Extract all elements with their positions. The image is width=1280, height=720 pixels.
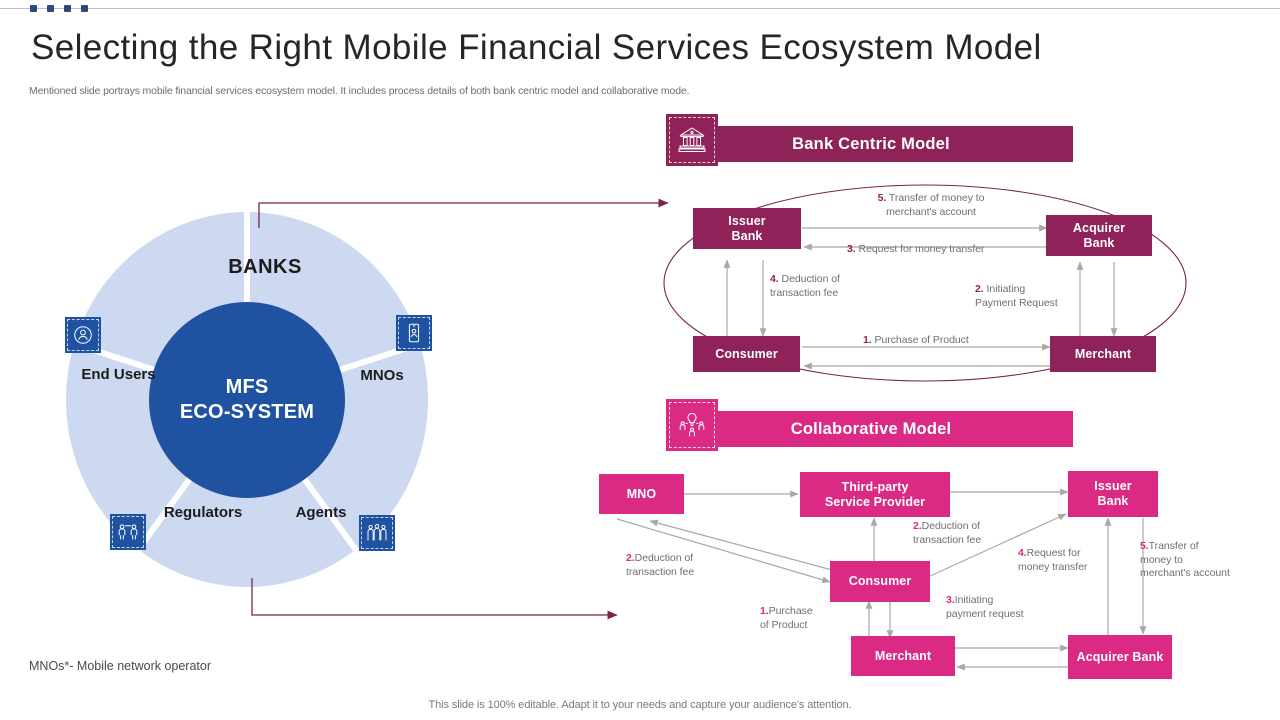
bc-step-5-line1: Transfer of money to — [886, 192, 984, 204]
cm-step-3-line1: Initiating — [955, 594, 994, 606]
bc-step-2-label: 2. Initiating Payment Request — [975, 283, 1105, 310]
bc-step-5-line2: merchant's account — [886, 206, 976, 218]
cm-step-4-label: 4.Request for money transfer — [1018, 547, 1122, 574]
bc-node-merchant: Merchant — [1050, 336, 1156, 372]
mobile-user-icon — [396, 315, 432, 351]
collaboration-idea-icon — [666, 399, 718, 451]
bank-centric-title: Bank Centric Model — [715, 135, 1073, 154]
bank-centric-header: Bank Centric Model — [666, 126, 1076, 162]
cm-step-2a-line1: Deduction of — [635, 552, 693, 564]
bc-acquirer-bank-line2: Bank — [1073, 236, 1125, 251]
cm-step-5-line1: Transfer of — [1149, 540, 1199, 552]
bc-step-3-label: 3. Request for money transfer — [847, 243, 1067, 257]
cm-node-third-party: Third-party Service Provider — [800, 472, 950, 517]
header-dots-decoration — [30, 2, 90, 16]
cm-node-merchant: Merchant — [851, 636, 955, 676]
segment-label-agents: Agents — [272, 504, 370, 521]
bc-step-4-line2: transaction fee — [770, 287, 838, 299]
bank-centric-title-bar: Bank Centric Model — [715, 126, 1073, 162]
cm-step-3-num: 3. — [946, 594, 955, 606]
cm-node-consumer: Consumer — [830, 561, 930, 602]
cm-step-2b-num: 2. — [913, 520, 922, 532]
bc-step-4-label: 4. Deduction of transaction fee — [770, 273, 890, 300]
bc-step-3-num: 3. — [847, 243, 856, 255]
cm-issuer-bank-line1: Issuer — [1094, 479, 1131, 494]
dot-4 — [81, 5, 88, 12]
dot-3 — [64, 5, 71, 12]
regulators-icon — [110, 514, 146, 550]
cm-step-4-line1: Request for — [1027, 547, 1081, 559]
dot-2 — [47, 5, 54, 12]
footnote-mnos: MNOs*- Mobile network operator — [29, 659, 211, 673]
cm-step-2a-label: 2.Deduction of transaction fee — [626, 552, 736, 579]
slide-root: Selecting the Right Mobile Financial Ser… — [0, 0, 1280, 720]
slide-footer: This slide is 100% editable. Adapt it to… — [0, 699, 1280, 711]
hub-label-line1: MFS — [180, 375, 314, 400]
cm-step-5-num: 5. — [1140, 540, 1149, 552]
dot-1 — [30, 5, 37, 12]
cm-step-2b-line1: Deduction of — [922, 520, 980, 532]
cm-step-1-label: 1.Purchase of Product — [760, 605, 860, 632]
header-divider — [0, 8, 1280, 9]
page-title: Selecting the Right Mobile Financial Ser… — [31, 26, 1151, 70]
bc-step-4-line1: Deduction of — [779, 273, 840, 285]
cm-step-1-line1: Purchase — [769, 605, 813, 617]
cm-step-2b-line2: transaction fee — [913, 534, 981, 546]
cm-node-mno: MNO — [599, 474, 684, 514]
cm-node-acquirer-bank: Acquirer Bank — [1068, 635, 1172, 679]
hub-label-line2: ECO-SYSTEM — [180, 400, 314, 425]
collaborative-title: Collaborative Model — [715, 420, 1073, 439]
bc-step-1-num: 1. — [863, 334, 872, 346]
bc-step-4-num: 4. — [770, 273, 779, 285]
cm-node-issuer-bank: Issuer Bank — [1068, 471, 1158, 517]
bc-step-3-text: Request for money transfer — [856, 243, 985, 255]
bank-building-icon — [666, 114, 718, 166]
cm-step-3-line2: payment request — [946, 608, 1023, 620]
page-subtitle: Mentioned slide portrays mobile financia… — [29, 84, 929, 98]
bc-acquirer-bank-line1: Acquirer — [1073, 221, 1125, 236]
cm-tpsp-line1: Third-party — [825, 480, 925, 495]
cm-step-4-line2: money transfer — [1018, 561, 1087, 573]
mfs-ecosystem-diagram: MFS ECO-SYSTEM BANKS End Users MNOs Regu… — [66, 212, 428, 587]
cm-step-2a-line2: transaction fee — [626, 566, 694, 578]
cm-step-5-line3: merchant's account — [1140, 567, 1230, 579]
bc-step-1-text: Purchase of Product — [872, 334, 969, 346]
bc-issuer-bank-line1: Issuer — [728, 214, 765, 229]
cm-step-1-num: 1. — [760, 605, 769, 617]
collaborative-header: Collaborative Model — [666, 411, 1076, 447]
cm-step-5-line2: money to — [1140, 554, 1183, 566]
bc-node-issuer-bank: Issuer Bank — [693, 208, 801, 249]
cm-step-4-num: 4. — [1018, 547, 1027, 559]
cm-step-2a-num: 2. — [626, 552, 635, 564]
bc-step-2-num: 2. — [975, 283, 984, 295]
segment-label-end-users: End Users — [76, 365, 161, 384]
cm-step-1-line2: of Product — [760, 619, 807, 631]
bc-step-2-line1: Initiating — [984, 283, 1025, 295]
segment-label-regulators: Regulators — [144, 504, 262, 521]
collaborative-title-bar: Collaborative Model — [715, 411, 1073, 447]
bc-issuer-bank-line2: Bank — [728, 229, 765, 244]
bc-step-1-label: 1. Purchase of Product — [863, 334, 1043, 348]
segment-label-mnos: MNOs — [336, 367, 428, 384]
bc-step-5-num: 5. — [878, 192, 887, 204]
bc-step-5-label: 5. Transfer of money to merchant's accou… — [836, 192, 1026, 219]
cm-step-2b-label: 2.Deduction of transaction fee — [913, 520, 1023, 547]
cm-step-3-label: 3.Initiating payment request — [946, 594, 1056, 621]
segment-label-banks: BANKS — [205, 256, 325, 279]
user-circle-icon — [65, 317, 101, 353]
ecosystem-hub: MFS ECO-SYSTEM — [149, 302, 345, 498]
bc-step-2-line2: Payment Request — [975, 297, 1058, 309]
bc-node-consumer: Consumer — [693, 336, 800, 372]
cm-step-5-label: 5.Transfer of money to merchant's accoun… — [1140, 540, 1260, 581]
people-group-icon — [359, 515, 395, 551]
cm-tpsp-line2: Service Provider — [825, 495, 925, 510]
cm-issuer-bank-line2: Bank — [1094, 494, 1131, 509]
